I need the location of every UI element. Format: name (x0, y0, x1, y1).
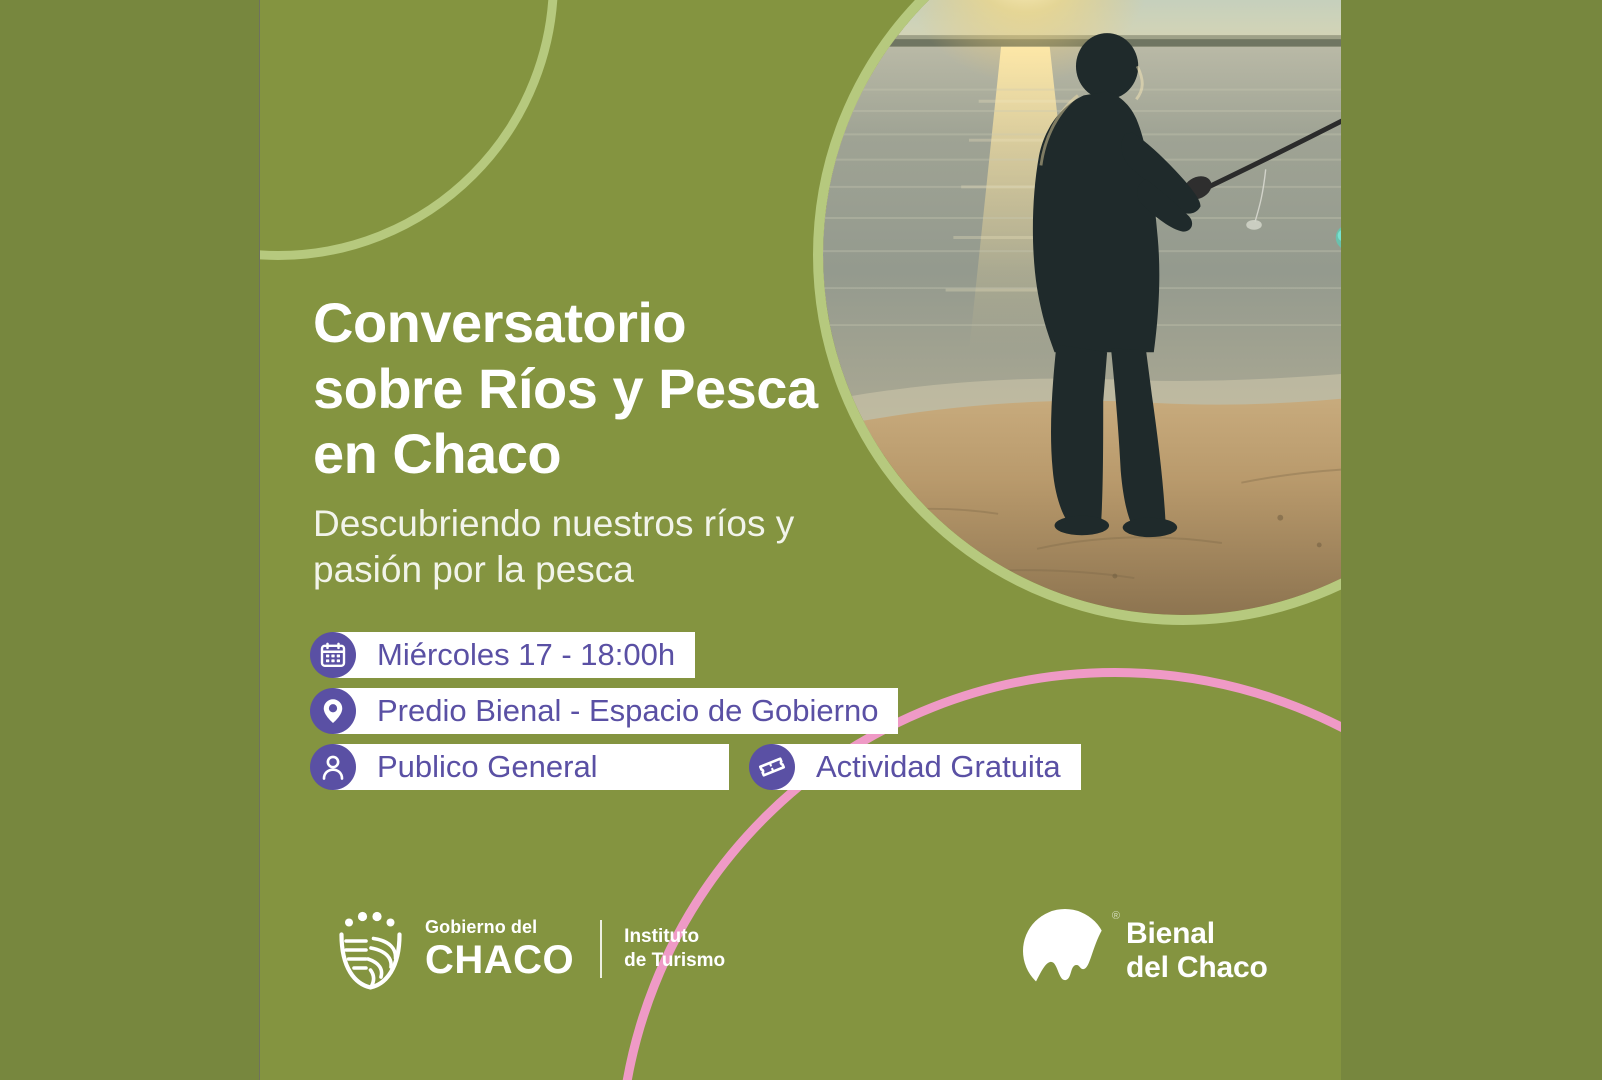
ticket-icon (749, 744, 795, 790)
title-line-1: Conversatorio (313, 291, 686, 354)
instituto-line-2: de Turismo (624, 949, 725, 973)
bienal-circle-icon: ® (1022, 908, 1108, 994)
gobierno-line-1: Gobierno del (425, 918, 574, 936)
logo-bienal-chaco: ® Bienal del Chaco (1022, 908, 1268, 994)
badge-audience-label: Publico General (377, 751, 598, 784)
headline-block: Conversatorio sobre Ríos y Pesca en Chac… (313, 290, 953, 594)
info-badges: Miércoles 17 - 18:00h Predio Bienal - Es… (310, 632, 1270, 800)
gobierno-wordmark: Gobierno del CHACO (425, 918, 574, 981)
title-line-2: sobre Ríos y Pesca (313, 357, 818, 420)
page-subtitle: Descubriendo nuestros ríos y pasión por … (313, 501, 953, 594)
poster-canvas: Conversatorio sobre Ríos y Pesca en Chac… (0, 0, 1602, 1080)
badge-audience[interactable]: Publico General (333, 744, 729, 790)
badge-date[interactable]: Miércoles 17 - 18:00h (333, 632, 695, 678)
subtitle-line-1: Descubriendo nuestros ríos y (313, 503, 794, 544)
badge-location-label: Predio Bienal - Espacio de Gobierno (377, 695, 878, 728)
registered-trademark-icon: ® (1112, 910, 1120, 922)
badge-price[interactable]: Actividad Gratuita (772, 744, 1081, 790)
poster-artboard: Conversatorio sobre Ríos y Pesca en Chac… (260, 0, 1341, 1080)
canvas-right-margin (1341, 0, 1602, 1080)
subtitle-line-2: pasión por la pesca (313, 549, 634, 590)
bienal-line-2: del Chaco (1126, 951, 1268, 985)
location-pin-icon (310, 688, 356, 734)
badge-price-label: Actividad Gratuita (816, 751, 1061, 784)
calendar-icon (310, 632, 356, 678)
badge-row-location: Predio Bienal - Espacio de Gobierno (310, 688, 1270, 734)
badge-location[interactable]: Predio Bienal - Espacio de Gobierno (333, 688, 898, 734)
badge-row-date: Miércoles 17 - 18:00h (310, 632, 1270, 678)
gobierno-line-2: CHACO (425, 939, 574, 981)
instituto-line-1: Instituto (624, 925, 725, 949)
page-title: Conversatorio sobre Ríos y Pesca en Chac… (313, 290, 953, 487)
title-line-3: en Chaco (313, 422, 561, 485)
decorative-arc-light-green (260, 0, 558, 260)
canvas-left-margin (0, 0, 260, 1080)
person-icon (310, 744, 356, 790)
logo-divider (600, 920, 602, 978)
bienal-line-1: Bienal (1126, 917, 1268, 951)
chaco-shield-icon (335, 908, 409, 990)
logo-gobierno-chaco: Gobierno del CHACO Instituto de Turismo (335, 908, 725, 990)
bienal-wordmark: Bienal del Chaco (1126, 917, 1268, 984)
badge-row-audience-price: Publico General Actividad Gratuita (310, 744, 1270, 790)
badge-date-label: Miércoles 17 - 18:00h (377, 639, 675, 672)
instituto-turismo-label: Instituto de Turismo (624, 925, 725, 974)
